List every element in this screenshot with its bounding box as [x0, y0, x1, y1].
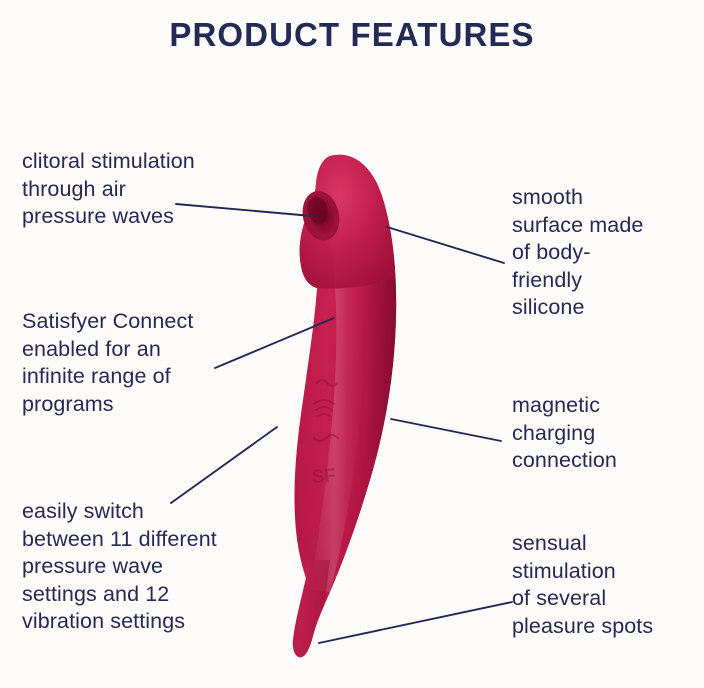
product-features-infographic: PRODUCT FEATURES [0, 0, 704, 688]
brand-mark: SF [311, 465, 337, 488]
callout-magnetic-charging: magnetic charging connection [512, 392, 697, 475]
callout-air-pressure: clitoral stimulation through air pressur… [22, 148, 272, 231]
callout-pleasure-spots: sensual stimulation of several pleasure … [512, 530, 704, 640]
leader-line-easily-switch [171, 427, 277, 503]
leader-line-magnetic [391, 419, 501, 441]
callout-easily-switch: easily switch between 11 different press… [22, 498, 284, 636]
leader-line-pleasure-spots [319, 602, 512, 643]
leader-line-silicone [387, 227, 504, 263]
callout-silicone: smooth surface made of body- friendly si… [512, 184, 697, 322]
product-body: SF [280, 140, 410, 672]
callout-satisfyer-connect: Satisfyer Connect enabled for an infinit… [22, 308, 277, 418]
